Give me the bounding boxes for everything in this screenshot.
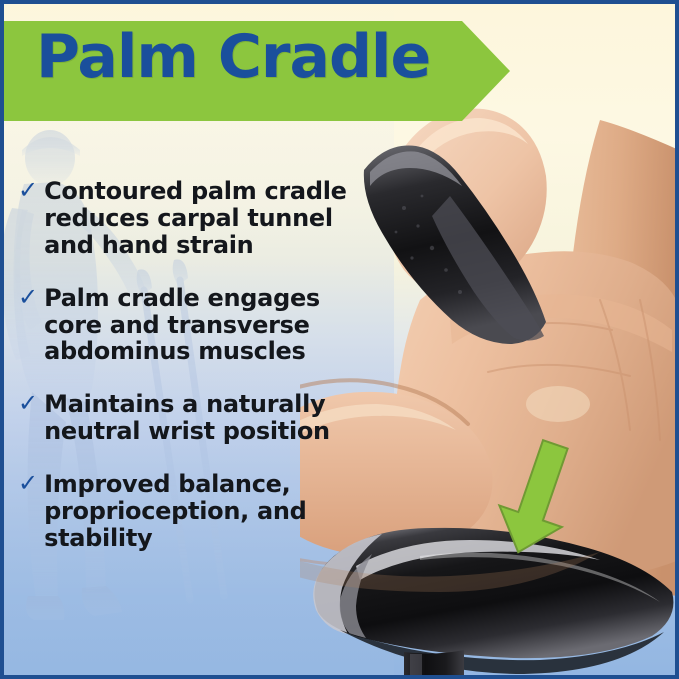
feature-label: Maintains a naturally neutral wrist posi… xyxy=(44,391,348,445)
check-icon: ✓ xyxy=(18,471,38,497)
down-arrow-icon xyxy=(484,438,594,558)
feature-list: ✓ Contoured palm cradle reduces carpal t… xyxy=(18,178,348,578)
list-item: ✓ Palm cradle engages core and transvers… xyxy=(18,285,348,366)
feature-label: Contoured palm cradle reduces carpal tun… xyxy=(44,178,348,259)
list-item: ✓ Improved balance, proprioception, and … xyxy=(18,471,348,552)
list-item: ✓ Contoured palm cradle reduces carpal t… xyxy=(18,178,348,259)
page-title: Palm Cradle xyxy=(36,22,430,92)
check-icon: ✓ xyxy=(18,285,38,311)
list-item: ✓ Maintains a naturally neutral wrist po… xyxy=(18,391,348,445)
check-icon: ✓ xyxy=(18,178,38,204)
check-icon: ✓ xyxy=(18,391,38,417)
feature-label: Palm cradle engages core and transverse … xyxy=(44,285,348,366)
feature-label: Improved balance, proprioception, and st… xyxy=(44,471,348,552)
infographic-canvas: Palm Cradle ✓ Contoured palm cradle redu… xyxy=(0,0,679,679)
